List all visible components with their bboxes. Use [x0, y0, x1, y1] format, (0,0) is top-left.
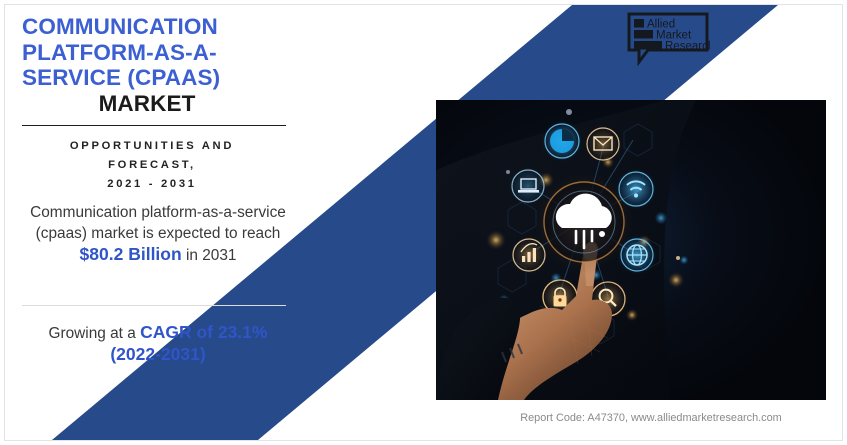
forecast-subheading-line-1: OPPORTUNITIES AND — [22, 137, 282, 156]
market-value-prefix: Communication platform-as-a-service (cpa… — [30, 204, 286, 242]
page-title: COMMUNICATION PLATFORM-AS-A- SERVICE (CP… — [22, 14, 290, 116]
forecast-subheading-line-3: 2021 - 2031 — [22, 175, 282, 194]
title-divider — [22, 125, 286, 126]
market-report-infographic: COMMUNICATION PLATFORM-AS-A- SERVICE (CP… — [0, 0, 847, 445]
cagr-prefix: Growing at a — [49, 325, 141, 342]
logo-word-research: Research — [665, 41, 710, 53]
hero-photo — [436, 100, 826, 400]
envelope-icon — [582, 123, 624, 165]
report-code-footer: Report Code: A47370, www.alliedmarketres… — [475, 412, 827, 424]
cagr-divider — [22, 305, 286, 306]
forecast-subheading: OPPORTUNITIES AND FORECAST, 2021 - 2031 — [22, 137, 290, 194]
market-value-suffix: in 2031 — [182, 247, 237, 264]
cagr-divider-wrapper — [22, 305, 294, 306]
pie-chart-icon — [540, 119, 584, 163]
cloud-icon — [532, 170, 636, 274]
page-title-line-1: COMMUNICATION — [22, 14, 290, 40]
hero-photo-illustration — [436, 100, 826, 400]
page-title-line-2: PLATFORM-AS-A- — [22, 40, 290, 66]
cagr-statement: Growing at a CAGR of 23.1% (2022-2031) — [22, 322, 294, 366]
page-title-market-word: MARKET — [22, 91, 290, 117]
page-title-line-3: SERVICE (CPAAS) — [22, 65, 290, 91]
speech-bubble-logo-icon: Allied Market Research — [626, 12, 710, 66]
allied-market-research-logo[interactable]: Allied Market Research — [626, 12, 710, 66]
forecast-subheading-line-2: FORECAST, — [22, 156, 282, 175]
market-value-highlight: $80.2 Billion — [80, 244, 182, 264]
left-content-panel: COMMUNICATION PLATFORM-AS-A- SERVICE (CP… — [22, 14, 290, 194]
market-value-statement: Communication platform-as-a-service (cpa… — [22, 202, 294, 266]
